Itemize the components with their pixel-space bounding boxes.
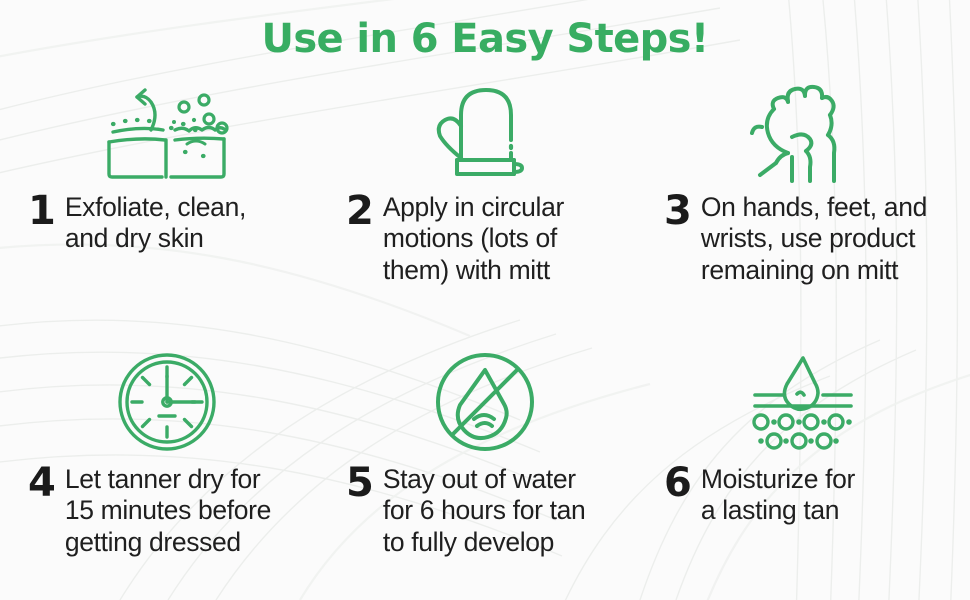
- step-6-icon-box: [741, 346, 865, 458]
- exfoliating-skin-icon: [99, 84, 235, 184]
- step-card-5: 5 Stay out of water for 6 hours for tan …: [326, 340, 644, 600]
- steps-grid: 1 Exfoliate, clean, and dry skin: [0, 78, 970, 600]
- step-card-6: 6 Moisturize for a lasting tan: [644, 340, 962, 600]
- clock-icon: [115, 350, 219, 454]
- step-4-icon-box: [115, 346, 219, 458]
- infographic-root: Use in 6 Easy Steps!: [0, 0, 970, 600]
- step-number-5: 5: [346, 463, 374, 504]
- step-text-5: Stay out of water for 6 hours for tan to…: [383, 464, 586, 558]
- step-6-body: 6 Moisturize for a lasting tan: [658, 464, 948, 527]
- step-card-2: 2 Apply in circular motions (lots of the…: [326, 78, 644, 340]
- step-text-4: Let tanner dry for 15 minutes before get…: [65, 464, 271, 558]
- step-text-2: Apply in circular motions (lots of them)…: [383, 192, 564, 286]
- step-card-4: 4 Let tanner dry for 15 minutes before g…: [8, 340, 326, 600]
- step-2-icon-box: [430, 80, 540, 188]
- step-1-icon-box: [99, 80, 235, 188]
- step-5-body: 5 Stay out of water for 6 hours for tan …: [340, 464, 630, 558]
- step-3-icon-box: [742, 80, 864, 188]
- step-4-body: 4 Let tanner dry for 15 minutes before g…: [22, 464, 312, 558]
- step-text-1: Exfoliate, clean, and dry skin: [65, 192, 246, 255]
- step-number-1: 1: [28, 191, 56, 232]
- step-card-1: 1 Exfoliate, clean, and dry skin: [8, 78, 326, 340]
- no-water-droplet-icon: [432, 349, 538, 455]
- rubbing-hands-icon: [742, 81, 864, 187]
- step-3-body: 3 On hands, feet, and wrists, use produc…: [658, 192, 948, 286]
- step-number-4: 4: [28, 463, 56, 504]
- page-title: Use in 6 Easy Steps!: [0, 18, 970, 60]
- moisturize-skin-icon: [741, 352, 865, 452]
- step-2-body: 2 Apply in circular motions (lots of the…: [340, 192, 630, 286]
- step-number-3: 3: [664, 191, 692, 232]
- title-container: Use in 6 Easy Steps!: [0, 0, 970, 78]
- tanning-mitt-icon: [430, 82, 540, 186]
- step-number-6: 6: [664, 463, 692, 504]
- step-text-3: On hands, feet, and wrists, use product …: [701, 192, 927, 286]
- step-text-6: Moisturize for a lasting tan: [701, 464, 855, 527]
- step-number-2: 2: [346, 191, 374, 232]
- step-card-3: 3 On hands, feet, and wrists, use produc…: [644, 78, 962, 340]
- step-1-body: 1 Exfoliate, clean, and dry skin: [22, 192, 312, 255]
- step-5-icon-box: [432, 346, 538, 458]
